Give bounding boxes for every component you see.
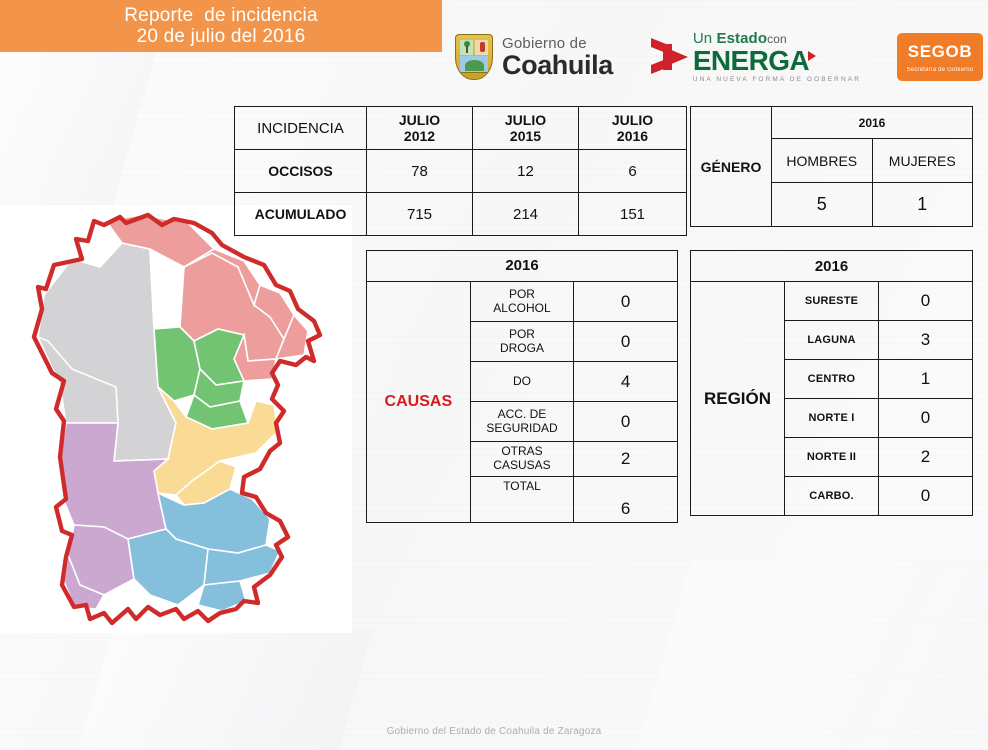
incidencia-row-label-occisos: OCCISOS: [235, 150, 367, 193]
coahuila-government-logo: Gobierno de Coahuila: [455, 34, 613, 80]
table-row: 2016: [691, 251, 973, 282]
incidencia-occisos-2012: 78: [367, 150, 473, 193]
incidencia-row-label-acumulado: ACUMULADO: [235, 193, 367, 236]
incidencia-acumulado-2015: 214: [473, 193, 579, 236]
coahuila-coat-of-arms-icon: [455, 34, 493, 80]
page-title-line2: 20 de julio del 2016: [137, 26, 306, 47]
incidencia-occisos-2016: 6: [579, 150, 687, 193]
coahuila-logo-title: Coahuila: [502, 52, 613, 79]
page-title-line1: Reporte de incidencia: [124, 5, 317, 26]
region-year-header: 2016: [691, 251, 973, 282]
table-row: GÉNERO 2016: [691, 107, 973, 139]
causas-table: 2016 CAUSAS PORALCOHOL 0 PORDROGA 0 DO 4…: [366, 250, 678, 523]
footer-text: Gobierno del Estado de Coahuila de Zarag…: [0, 726, 988, 737]
energia-tagline: UNA NUEVA FORMA DE GOBERNAR: [693, 77, 861, 84]
incidencia-acumulado-2016: 151: [579, 193, 687, 236]
energia-line1-con: con: [767, 32, 787, 46]
region-value-centro: 1: [879, 360, 973, 399]
region-value-norte-i: 0: [879, 399, 973, 438]
causas-value-por-droga: 0: [574, 322, 678, 362]
region-table: 2016 REGIÓN SURESTE 0 LAGUNA 3 CENTRO 1 …: [690, 250, 973, 516]
genero-table: GÉNERO 2016 HOMBRES MUJERES 5 1: [690, 106, 973, 227]
segob-subtitle: Secretaría de Gobierno: [907, 67, 974, 73]
genero-value-hombres: 5: [772, 183, 873, 227]
genero-year-header: 2016: [772, 107, 973, 139]
table-row: ACUMULADO 715 214 151: [235, 193, 687, 236]
causas-value-otras-casusas: 2: [574, 442, 678, 477]
segob-logo: SEGOB Secretaría de Gobierno: [897, 33, 983, 81]
genero-col-hombres: HOMBRES: [772, 139, 873, 183]
causas-name-por-alcohol: PORALCOHOL: [470, 282, 574, 322]
logo-strip: Gobierno de Coahuila Un Estadocon ENERGA…: [455, 22, 983, 92]
causas-label: CAUSAS: [367, 282, 471, 523]
causas-name-por-droga: PORDROGA: [470, 322, 574, 362]
causas-name-otras-casusas: OTRASCASUSAS: [470, 442, 574, 477]
genero-label: GÉNERO: [691, 107, 772, 227]
causas-value-total: 6: [574, 477, 678, 523]
energia-wordmark: ENERGA: [693, 45, 809, 76]
incidencia-header-col-0: JULIO2012: [367, 107, 473, 150]
incidencia-header-main: INCIDENCIA: [235, 107, 367, 150]
background-streak: [628, 560, 988, 750]
region-name-laguna: LAGUNA: [785, 321, 879, 360]
causas-name-acc-de-seguridad: ACC. DESEGURIDAD: [470, 402, 574, 442]
region-name-norte-i: NORTE I: [785, 399, 879, 438]
coahuila-logo-subtitle: Gobierno de: [502, 36, 613, 51]
region-value-carbo: 0: [879, 477, 973, 516]
incidencia-header-col-2: JULIO2016: [579, 107, 687, 150]
causas-year-header: 2016: [367, 251, 678, 282]
region-name-carbo: CARBO.: [785, 477, 879, 516]
region-label: REGIÓN: [691, 282, 785, 516]
energia-triangle-icon: [808, 51, 816, 61]
region-value-laguna: 3: [879, 321, 973, 360]
table-row: INCIDENCIA JULIO2012 JULIO2015 JULIO2016: [235, 107, 687, 150]
incidencia-header-col-1: JULIO2015: [473, 107, 579, 150]
causas-name-total: TOTAL: [470, 477, 574, 523]
region-name-centro: CENTRO: [785, 360, 879, 399]
incidencia-occisos-2015: 12: [473, 150, 579, 193]
incidencia-table: INCIDENCIA JULIO2012 JULIO2015 JULIO2016…: [234, 106, 687, 236]
causas-name-do: DO: [470, 362, 574, 402]
region-value-sureste: 0: [879, 282, 973, 321]
region-name-sureste: SURESTE: [785, 282, 879, 321]
region-value-norte-ii: 2: [879, 438, 973, 477]
segob-acronym: SEGOB: [908, 42, 972, 62]
causas-value-do: 4: [574, 362, 678, 402]
map-panel: [0, 205, 352, 633]
slide-root: Reporte de incidencia 20 de julio del 20…: [0, 0, 988, 750]
causas-value-acc-de-seguridad: 0: [574, 402, 678, 442]
genero-col-mujeres: MUJERES: [872, 139, 973, 183]
table-row: REGIÓN SURESTE 0: [691, 282, 973, 321]
table-row: 2016: [367, 251, 678, 282]
energia-arrow-icon: [649, 38, 691, 76]
region-name-norte-ii: NORTE II: [785, 438, 879, 477]
un-estado-con-energia-logo: Un Estadocon ENERGA UNA NUEVA FORMA DE G…: [649, 31, 861, 84]
incidencia-acumulado-2012: 715: [367, 193, 473, 236]
genero-value-mujeres: 1: [872, 183, 973, 227]
coahuila-regions-map: [8, 209, 344, 629]
causas-value-por-alcohol: 0: [574, 282, 678, 322]
table-row: OCCISOS 78 12 6: [235, 150, 687, 193]
table-row: CAUSAS PORALCOHOL 0: [367, 282, 678, 322]
report-title-bar: Reporte de incidencia 20 de julio del 20…: [0, 0, 442, 52]
